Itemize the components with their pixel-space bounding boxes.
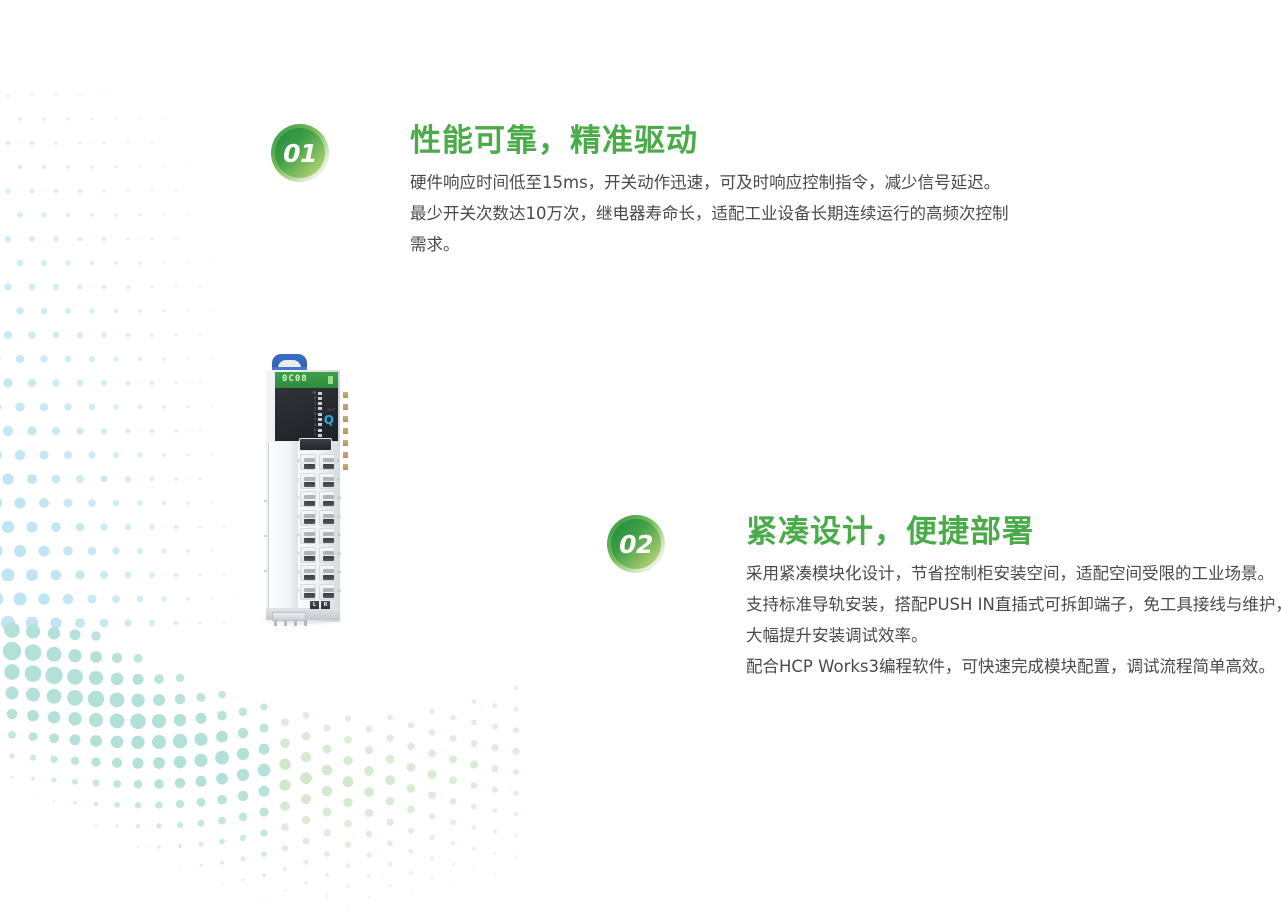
module-terminal-slot <box>323 569 334 573</box>
module-led-indicator <box>318 413 322 416</box>
module-terminal-hole <box>323 519 334 524</box>
module-led-indicator <box>318 402 322 405</box>
module-terminal: 0 <box>300 454 316 470</box>
feature-title-02: 紧凑设计，便捷部署 <box>746 515 1281 551</box>
module-terminal-slot <box>304 569 315 573</box>
module-led-label: 6 <box>311 428 316 432</box>
module-foot-notch <box>284 620 287 626</box>
module-terminal-hole <box>323 556 334 561</box>
module-side-bead <box>264 500 267 502</box>
feature-line: 支持标准导轨安装，搭配PUSH IN直插式可拆卸端子，免工具接线与维护，大幅提升… <box>746 589 1281 651</box>
feature-text-01: 性能可靠，精准驱动 硬件响应时间低至15ms，开关动作迅速，可及时响应控制指令，… <box>410 124 1150 260</box>
module-terminal-number: 5 <box>298 553 300 556</box>
module-led-indicator <box>318 434 322 437</box>
module-connector-dash <box>343 428 348 434</box>
module-terminal-hole <box>304 556 315 561</box>
module-terminal-slot <box>323 551 334 555</box>
module-terminal-number: 3 <box>298 516 300 519</box>
module-terminal-grid: 0819210311412513614715 <box>300 454 335 600</box>
module-led-row: 4 <box>311 417 322 421</box>
module-terminal: 12 <box>319 528 335 544</box>
halftone-dots-left-decoration <box>0 95 290 635</box>
module-terminal: 10 <box>319 491 335 507</box>
module-terminal-number: 14 <box>337 571 341 574</box>
module-terminal-hole <box>323 482 334 487</box>
feature-line: 硬件响应时间低至15ms，开关动作迅速，可及时响应控制指令，减少信号延迟。 <box>410 167 1150 198</box>
module-terminal-hole <box>304 538 315 543</box>
module-led-row: 5 <box>311 423 322 427</box>
feature-body-02: 采用紧凑模块化设计，节省控制柜安装空间，适配空间受限的工业场景。 支持标准导轨安… <box>746 558 1281 682</box>
module-terminal-slot <box>304 588 315 592</box>
module-side-bead <box>264 570 267 572</box>
module-terminal-number: 4 <box>298 534 300 537</box>
module-brand-mark: Q <box>324 414 334 426</box>
module-terminal-hole <box>304 464 315 469</box>
module-terminal: 9 <box>319 473 335 489</box>
module-foot-marks: LR <box>310 600 334 609</box>
module-terminal-slot <box>304 477 315 481</box>
feature-block-02: 02 紧凑设计，便捷部署 采用紧凑模块化设计，节省控制柜安装空间，适配空间受限的… <box>607 515 1281 682</box>
module-terminal-slot <box>323 588 334 592</box>
module-terminal: 14 <box>319 565 335 581</box>
module-terminal: 4 <box>300 528 316 544</box>
module-terminal-hole <box>323 538 334 543</box>
module-terminal-hole <box>304 575 315 580</box>
module-terminal-number: 12 <box>337 534 341 537</box>
feature-text-02: 紧凑设计，便捷部署 采用紧凑模块化设计，节省控制柜安装空间，适配空间受限的工业场… <box>746 515 1281 682</box>
badge-number: 02 <box>619 532 653 557</box>
module-terminal-slot <box>304 458 315 462</box>
module-terminal-slot <box>323 495 334 499</box>
module-led-row: 1 <box>311 402 322 406</box>
module-connector-dash <box>343 416 348 422</box>
module-terminal-number: 11 <box>337 516 341 519</box>
feature-line: 配合HCP Works3编程软件，可快速完成模块配置，调试流程简单高效。 <box>746 651 1281 682</box>
module-terminal-slot <box>323 458 334 462</box>
module-label-chip <box>328 376 333 384</box>
feature-block-01: 01 性能可靠，精准驱动 硬件响应时间低至15ms，开关动作迅速，可及时响应控制… <box>271 124 1150 260</box>
module-terminal-number: 13 <box>337 553 341 556</box>
module-connector-dash <box>343 452 348 458</box>
module-foot-notch <box>304 620 307 626</box>
module-foot-mark: R <box>321 601 330 609</box>
module-terminal-slot <box>323 532 334 536</box>
module-brand-sub: HCP <box>328 408 335 412</box>
module-terminal: 1 <box>300 473 316 489</box>
module-terminal: 13 <box>319 547 335 563</box>
module-terminal-hole <box>323 464 334 469</box>
product-module-image: 0C08 CM012345678 HCP Q 08192103114125136… <box>252 350 362 635</box>
module-led-label: 7 <box>311 433 316 437</box>
module-led-label: 0 <box>311 396 316 400</box>
feature-body-01: 硬件响应时间低至15ms，开关动作迅速，可及时响应控制指令，减少信号延迟。 最少… <box>410 167 1150 260</box>
feature-line: 采用紧凑模块化设计，节省控制柜安装空间，适配空间受限的工业场景。 <box>746 558 1281 589</box>
module-led-indicator <box>318 407 322 410</box>
module-foot-notch <box>294 620 297 626</box>
module-terminal-number: 6 <box>298 571 300 574</box>
module-led-label: 1 <box>311 402 316 406</box>
module-led-row: CM <box>311 391 322 395</box>
module-led-row: 6 <box>311 428 322 432</box>
halftone-wave-decoration <box>0 620 530 920</box>
module-terminal: 15 <box>319 584 335 600</box>
module-led-panel: CM012345678 HCP Q <box>275 388 338 441</box>
module-led-label: 5 <box>311 423 316 427</box>
module-terminal-hole <box>304 519 315 524</box>
module-terminal-slot <box>304 551 315 555</box>
module-label-bar: 0C08 <box>275 372 338 388</box>
feature-badge-01: 01 <box>271 124 329 182</box>
module-din-rail-clip <box>272 612 306 621</box>
module-led-row: 3 <box>311 412 322 416</box>
module-led-indicator <box>318 397 322 400</box>
module-connector-dash <box>343 392 348 398</box>
module-terminal-number: 7 <box>298 590 300 593</box>
module-led-indicator <box>318 429 322 432</box>
module-led-indicator <box>318 418 322 421</box>
module-led-indicator <box>318 423 322 426</box>
module-led-column: CM012345678 <box>311 391 322 443</box>
module-led-row: 7 <box>311 433 322 437</box>
module-terminal-number: 9 <box>337 479 339 482</box>
module-terminal: 8 <box>319 454 335 470</box>
module-terminal-slot <box>323 514 334 518</box>
module-connector-dash <box>343 404 348 410</box>
module-led-label: CM <box>311 391 316 395</box>
feature-title-01: 性能可靠，精准驱动 <box>410 124 1150 160</box>
module-terminal-hole <box>304 482 315 487</box>
module-terminal-number: 10 <box>337 497 341 500</box>
module-terminal-hole <box>304 501 315 506</box>
module-terminal: 5 <box>300 547 316 563</box>
module-terminal-slot <box>304 532 315 536</box>
module-terminal: 6 <box>300 565 316 581</box>
module-led-label: 4 <box>311 417 316 421</box>
module-terminal-slot <box>304 495 315 499</box>
badge-number: 01 <box>283 141 317 166</box>
module-connector-dash <box>343 464 348 470</box>
module-display-code: 0C08 <box>282 374 308 384</box>
module-terminal-number: 2 <box>298 497 300 500</box>
module-foot-notch <box>274 620 277 626</box>
module-terminal-number: 1 <box>298 479 300 482</box>
module-terminal-hole <box>323 575 334 580</box>
module-led-label: 2 <box>311 407 316 411</box>
module-terminal-number: 15 <box>337 590 341 593</box>
module-terminal: 7 <box>300 584 316 600</box>
module-terminal-hole <box>323 593 334 598</box>
module-terminal-header <box>299 438 332 451</box>
module-terminal-number: 8 <box>337 460 339 463</box>
module-terminal-slot <box>323 477 334 481</box>
module-terminal-hole <box>304 593 315 598</box>
module-left-flank <box>268 442 298 608</box>
module-led-label: 3 <box>311 412 316 416</box>
module-led-indicator <box>318 392 322 395</box>
module-foot-mark: L <box>310 601 319 609</box>
module-terminal-hole <box>323 501 334 506</box>
module-led-row: 0 <box>311 396 322 400</box>
module-led-row: 2 <box>311 407 322 411</box>
module-flank-seam <box>268 442 269 608</box>
module-terminal: 2 <box>300 491 316 507</box>
module-terminal-number: 0 <box>298 460 300 463</box>
feature-line: 最少开关次数达10万次，继电器寿命长，适配工业设备长期连续运行的高频次控制 <box>410 198 1150 229</box>
module-terminal: 3 <box>300 510 316 526</box>
module-connector-dash <box>343 440 348 446</box>
module-side-bead <box>264 535 267 537</box>
module-terminal-slot <box>304 514 315 518</box>
module-terminal: 11 <box>319 510 335 526</box>
feature-line: 需求。 <box>410 229 1150 260</box>
feature-badge-02: 02 <box>607 515 665 573</box>
